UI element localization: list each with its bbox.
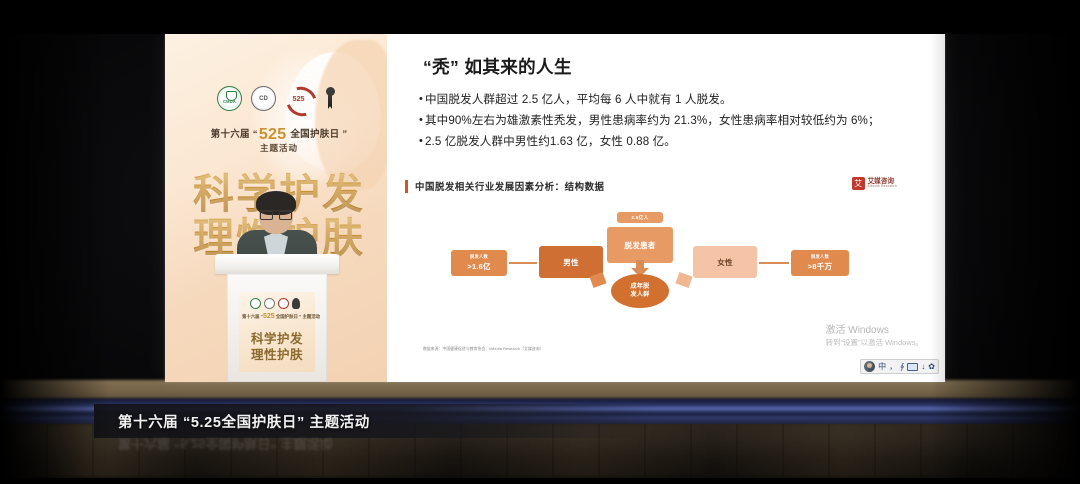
projection-screen: 第十六届 “525 全国护肤日 ” 主题活动 科学护发 理性护肤 [165,32,945,382]
ribbon-logo-icon [321,86,339,111]
arrow-female-to-group-icon [675,272,692,288]
chart-title: 中国脱发相关行业发展因素分析：结构数据 [415,179,605,193]
screenshot-root: 第十六届 “525 全国护肤日 ” 主题活动 科学护发 理性护肤 [0,0,1080,484]
podium-sign: 第十六届 “525 全国护肤日 ” 主题活动 科学护发 理性护肤 [239,292,315,372]
chart-accent-bar [405,180,408,193]
node-value: >8千万 [808,261,833,272]
podium-sign-number: 525 [263,313,275,320]
chinese-mode-icon[interactable]: 中 [878,361,886,372]
525-logo-icon [285,86,312,111]
imedia-brand-logo: 艾媒咨询 iiMedia Research [852,177,897,190]
imedia-brand-sub: iiMedia Research [868,185,897,189]
bullet-marker: • [419,115,423,127]
vignette-right [930,0,1080,484]
cd-logo-icon [251,86,276,111]
bullet-marker: • [419,136,423,148]
diagram-node-patients: 脱发患者 [607,227,673,263]
list-item: • 中国脱发人群超过 2.5 亿人，平均每 6 人中就有 1 人脱发。 [419,94,929,106]
poster-subtitle-line2: 主题活动 [189,142,369,154]
podium-525-logo-icon [278,298,289,309]
diagram-node-male-count: 脱发人数 >1.6亿 [451,250,507,276]
diagram-node-female-count: 脱发人数 >8千万 [791,250,849,276]
podium-cd-logo-icon [264,298,275,309]
node-value: 脱发患者 [624,240,655,251]
bullet-text: 中国脱发人群超过 2.5 亿人，平均每 6 人中就有 1 人脱发。 [425,94,732,106]
bullet-text: 其中90%左右为雄激素性秃发，男性患病率约为 21.3%，女性患病率相对较低约为… [425,115,880,127]
poster-subtitle-number: 525 [259,126,287,143]
poster-logo-row [217,86,339,111]
poster-subtitle-prefix: 第十六届 “ [211,129,258,140]
voice-icon[interactable]: ↓ [921,362,925,371]
letterbox-bottom [0,478,1080,484]
half-width-icon[interactable]: ∮ [900,362,904,371]
punctuation-icon[interactable]: ， [889,361,897,372]
chart-header: 中国脱发相关行业发展因素分析：结构数据 艾媒咨询 iiMedia Researc… [405,178,905,200]
podium-sign-prefix: 第十六届 “ [242,314,263,319]
diagram-node-female: 女性 [693,246,757,278]
speaker-glasses-icon [260,210,292,217]
poster-subtitle-suffix: 全国护肤日 ” [287,129,347,140]
bullet-text: 2.5 亿脱发人群中男性约1.63 亿，女性 0.88 亿。 [425,136,676,148]
podium-sign-suffix: 全国护肤日 ” 主题活动 [275,314,320,319]
soft-keyboard-icon[interactable] [907,363,918,371]
imedia-brand-text: 艾媒咨询 iiMedia Research [868,178,897,189]
banner-text: 第十六届 “5.25全国护肤日” 主题活动 [118,411,370,432]
bullet-marker: • [419,94,423,106]
slide-title: “秃” 如其来的人生 [423,54,572,79]
diagram-node-patients-count: 2.5亿人 [617,212,663,223]
podium-ribbon-logo-icon [292,298,300,309]
lower-third-banner: 第十六届 “5.25全国护肤日” 主题活动 [94,404,654,438]
node-value: 女性 [717,257,733,268]
slide-bullet-list: • 中国脱发人群超过 2.5 亿人，平均每 6 人中就有 1 人脱发。 • 其中… [419,94,929,158]
chart-source-note: 数据来源：中国健康促进与教育协会、iiMedia Research（艾媒咨询） [423,347,544,352]
node-value: >1.6亿 [467,261,491,272]
node-value: 男性 [563,257,579,268]
podium-cmda-logo-icon [250,298,261,309]
diagram-node-male: 男性 [539,246,603,278]
node-caption: 脱发人数 [470,254,488,260]
ime-logo-icon[interactable] [864,361,875,372]
node-value: 成年脱 发人群 [630,283,649,299]
podium-sign-line2: 理性护肤 [239,344,315,363]
podium-top [215,254,339,274]
letterbox-top [0,0,1080,34]
cmda-logo-icon [217,86,242,111]
connector-female [759,262,789,264]
structure-diagram-card: 中国脱发相关行业发展因素分析：结构数据 艾媒咨询 iiMedia Researc… [405,178,905,354]
podium-sign-logo-row [250,298,300,309]
ime-language-bar[interactable]: 中 ， ∮ ↓ ✿ [860,359,939,374]
diagram-node-adult-group: 成年脱 发人群 [611,274,669,308]
event-poster: 第十六届 “525 全国护肤日 ” 主题活动 科学护发 理性护肤 [165,32,387,382]
podium: 第十六届 “525 全国护肤日 ” 主题活动 科学护发 理性护肤 [215,254,339,382]
podium-sign-subtitle: 第十六届 “525 全国护肤日 ” 主题活动 [242,313,312,320]
banner-reflection: 第十六届 “5.25全国护肤日” 主题活动 [118,438,418,454]
connector-male [509,262,537,264]
list-item: • 2.5 亿脱发人群中男性约1.63 亿，女性 0.88 亿。 [419,136,929,148]
node-value: 2.5亿人 [631,214,648,221]
imedia-mark-icon [852,177,865,190]
node-caption: 脱发人数 [811,254,829,260]
diagram-canvas: 脱发人数 >1.6亿 男性 2.5亿人 脱发患者 [405,200,905,326]
presentation-slide: “秃” 如其来的人生 • 中国脱发人群超过 2.5 亿人，平均每 6 人中就有 … [387,32,945,382]
list-item: • 其中90%左右为雄激素性秃发，男性患病率约为 21.3%，女性患病率相对较低… [419,115,929,127]
vignette-left [0,0,110,484]
